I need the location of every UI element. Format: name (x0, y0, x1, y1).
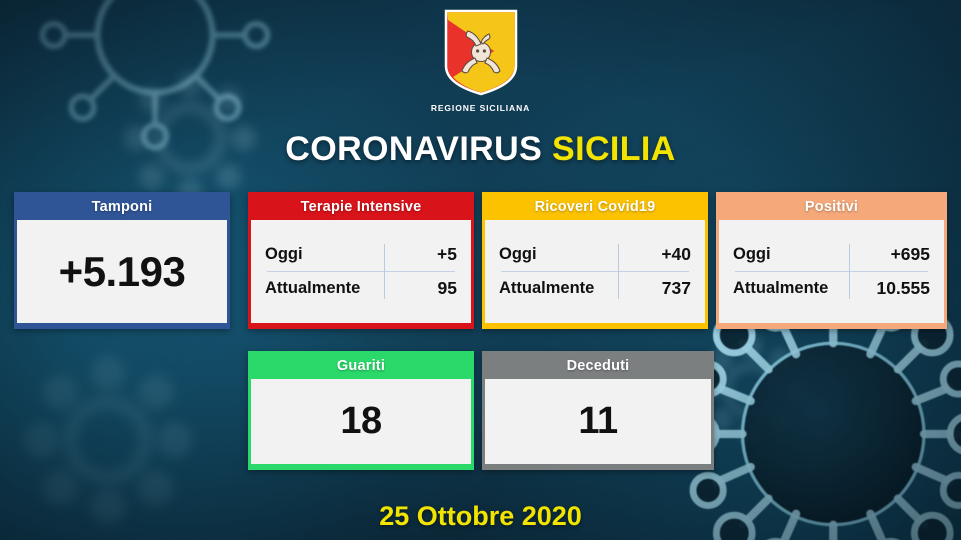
card-deceduti: Deceduti 11 (482, 351, 714, 470)
row-vertical-divider (618, 244, 619, 299)
card-positivi-body: Oggi +695 Attualmente 10.555 (719, 220, 944, 323)
row-vertical-divider (849, 244, 850, 299)
card-terapie-intensive-body: Oggi +5 Attualmente 95 (251, 220, 471, 323)
emblem-block: REGIONE SICILIANA (0, 8, 961, 113)
card-deceduti-value: 11 (485, 400, 711, 443)
table-row: Attualmente 95 (265, 272, 457, 305)
row-value: +695 (840, 244, 930, 265)
card-positivi-title: Positivi (719, 195, 944, 220)
sicily-trinacria-crest-icon (442, 8, 520, 96)
table-row: Attualmente 737 (499, 272, 691, 305)
coronavirus-sicilia-infographic: REGIONE SICILIANA CORONAVIRUS SICILIA Ta… (0, 0, 961, 540)
table-row: Oggi +5 (265, 238, 457, 271)
row-value: +5 (379, 244, 457, 265)
card-tamponi: Tamponi +5.193 (14, 192, 230, 329)
row-value: 737 (613, 278, 691, 299)
card-guariti: Guariti 18 (248, 351, 474, 470)
card-ricoveri-rows: Oggi +40 Attualmente 737 (485, 238, 705, 305)
card-tamponi-body: +5.193 (17, 220, 227, 323)
card-terapie-intensive-title: Terapie Intensive (251, 195, 471, 220)
card-deceduti-title: Deceduti (485, 354, 711, 379)
emblem-caption: REGIONE SICILIANA (0, 103, 961, 113)
report-date: 25 Ottobre 2020 (0, 501, 961, 532)
table-row: Oggi +695 (733, 238, 930, 271)
table-row: Oggi +40 (499, 238, 691, 271)
title-accent: SICILIA (552, 130, 676, 168)
card-tamponi-value: +5.193 (17, 248, 227, 296)
row-label: Attualmente (733, 279, 840, 298)
row-label: Attualmente (499, 279, 613, 298)
row-label: Attualmente (265, 279, 379, 298)
row-label: Oggi (265, 245, 379, 264)
card-guariti-title: Guariti (251, 354, 471, 379)
card-ricoveri-body: Oggi +40 Attualmente 737 (485, 220, 705, 323)
card-deceduti-body: 11 (485, 379, 711, 464)
card-terapie-intensive-rows: Oggi +5 Attualmente 95 (251, 238, 471, 305)
row-value: 95 (379, 278, 457, 299)
row-label: Oggi (733, 245, 840, 264)
card-ricoveri-title: Ricoveri Covid19 (485, 195, 705, 220)
card-ricoveri: Ricoveri Covid19 Oggi +40 Attualmente 73… (482, 192, 708, 329)
card-terapie-intensive: Terapie Intensive Oggi +5 Attualmente 95 (248, 192, 474, 329)
row-label: Oggi (499, 245, 613, 264)
card-positivi: Positivi Oggi +695 Attualmente 10.555 (716, 192, 947, 329)
card-guariti-value: 18 (251, 400, 471, 443)
card-tamponi-title: Tamponi (17, 195, 227, 220)
page-title: CORONAVIRUS SICILIA (0, 130, 961, 169)
row-vertical-divider (384, 244, 385, 299)
card-guariti-body: 18 (251, 379, 471, 464)
card-positivi-rows: Oggi +695 Attualmente 10.555 (719, 238, 944, 305)
table-row: Attualmente 10.555 (733, 272, 930, 305)
title-main: CORONAVIRUS (285, 130, 542, 168)
row-value: +40 (613, 244, 691, 265)
row-value: 10.555 (840, 278, 930, 299)
